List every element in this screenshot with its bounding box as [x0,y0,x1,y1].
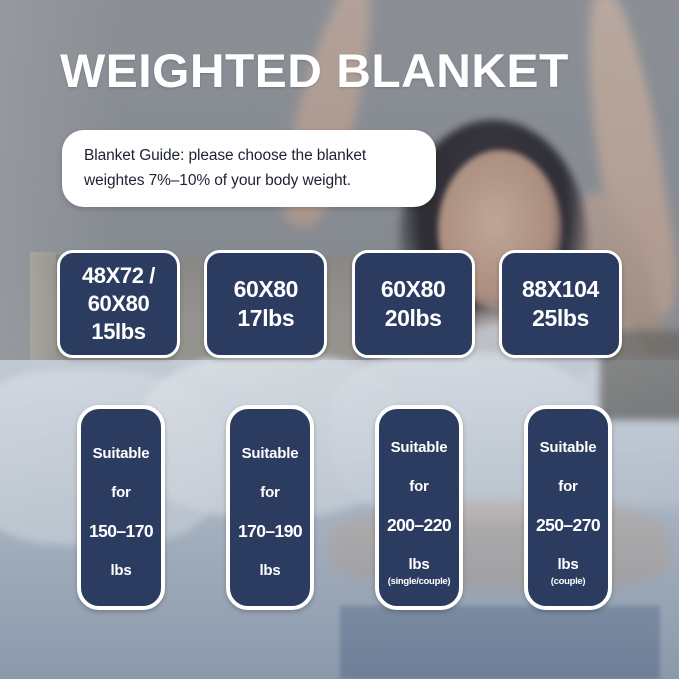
size-card-row: 48X72 / 60X80 15lbs 60X80 17lbs 60X80 20… [57,250,622,358]
guide-line-2: weightes 7%–10% of your body weight. [84,168,416,193]
blanket-guide-callout: Blanket Guide: please choose the blanket… [62,130,436,207]
size-card-1-line-3: 15lbs [91,318,145,346]
suitability-card-3-for: for [409,478,428,495]
suitability-card-3-note: (single/couple) [388,576,451,587]
size-card-3-line-2: 20lbs [385,304,442,333]
suitability-card-1-unit: lbs [110,562,131,579]
size-card-2[interactable]: 60X80 17lbs [204,250,327,358]
suitability-card-4-label: Suitable [540,439,597,456]
size-card-1[interactable]: 48X72 / 60X80 15lbs [57,250,180,358]
size-card-3-line-1: 60X80 [381,275,446,304]
size-card-2-line-2: 17lbs [237,304,294,333]
suitability-card-4[interactable]: Suitable for 250–270 lbs (couple) [524,405,612,610]
suitability-card-2-label: Suitable [242,445,299,462]
suitability-card-1-range: 150–170 [89,523,153,540]
size-card-4-line-2: 25lbs [532,304,589,333]
suitability-card-3[interactable]: Suitable for 200–220 lbs (single/couple) [375,405,463,610]
product-infographic: WEIGHTED BLANKET Blanket Guide: please c… [0,0,679,679]
suitability-card-3-unit: lbs [408,556,429,573]
size-card-4[interactable]: 88X104 25lbs [499,250,622,358]
suitability-card-2-range: 170–190 [238,523,302,540]
size-card-4-line-1: 88X104 [522,275,599,304]
suitability-card-2-unit: lbs [259,562,280,579]
suitability-card-3-range: 200–220 [387,517,451,534]
guide-line-1: Blanket Guide: please choose the blanket [84,143,416,168]
suitability-card-4-range: 250–270 [536,517,600,534]
size-card-2-line-1: 60X80 [234,275,299,304]
suitability-card-1-label: Suitable [93,445,150,462]
suitability-card-row: Suitable for 150–170 lbs Suitable for 17… [77,405,612,610]
suitability-card-4-for: for [558,478,577,495]
size-card-1-line-1: 48X72 / [82,262,155,290]
suitability-card-2[interactable]: Suitable for 170–190 lbs [226,405,314,610]
page-title: WEIGHTED BLANKET [60,46,569,96]
size-card-1-line-2: 60X80 [88,290,150,318]
size-card-3[interactable]: 60X80 20lbs [352,250,475,358]
suitability-card-4-note: (couple) [551,576,586,587]
suitability-card-1[interactable]: Suitable for 150–170 lbs [77,405,165,610]
suitability-card-3-label: Suitable [391,439,448,456]
suitability-card-4-unit: lbs [557,556,578,573]
suitability-card-1-for: for [111,484,130,501]
suitability-card-2-for: for [260,484,279,501]
